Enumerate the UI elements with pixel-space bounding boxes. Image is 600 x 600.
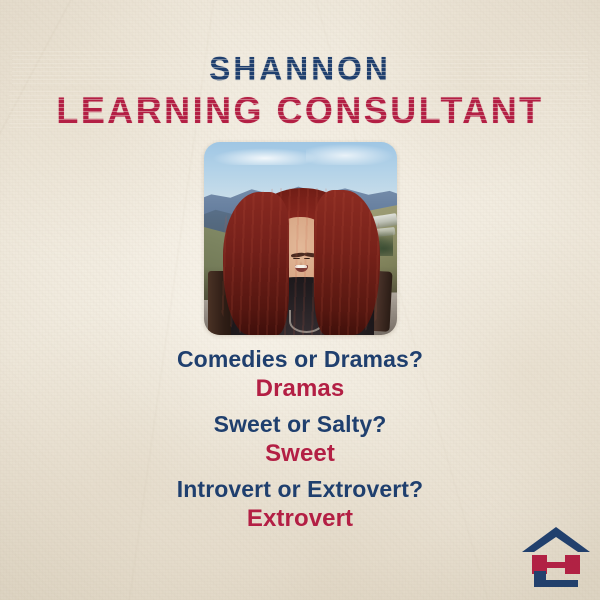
photo-eye-left [293,258,300,260]
photo-hair-left [223,192,289,335]
photo-smile [295,265,308,272]
qa-answer: Sweet [0,442,600,466]
photo-hair-right [314,190,380,335]
person-name: SHANNON [12,52,588,85]
qa-question: Introvert or Extrovert? [0,478,600,501]
photo-scene [204,142,397,335]
qa-block: Comedies or Dramas? Dramas Sweet or Salt… [0,348,600,543]
qa-question: Sweet or Salty? [0,413,600,436]
photo-cloud [212,148,318,165]
house-h-logo-icon [520,524,592,590]
qa-item: Sweet or Salty? Sweet [0,413,600,467]
profile-poster: SHANNON LEARNING CONSULTANT [0,0,600,600]
photo-eye-right [304,258,311,260]
qa-question: Comedies or Dramas? [0,348,600,371]
title-block: SHANNON LEARNING CONSULTANT [0,52,600,129]
qa-item: Comedies or Dramas? Dramas [0,348,600,402]
qa-answer: Dramas [0,377,600,401]
photo-cloud [306,144,393,165]
person-role: LEARNING CONSULTANT [9,92,591,129]
qa-item: Introvert or Extrovert? Extrovert [0,478,600,532]
profile-photo [204,142,397,335]
qa-answer: Extrovert [0,507,600,531]
photo-teeth [295,265,307,268]
